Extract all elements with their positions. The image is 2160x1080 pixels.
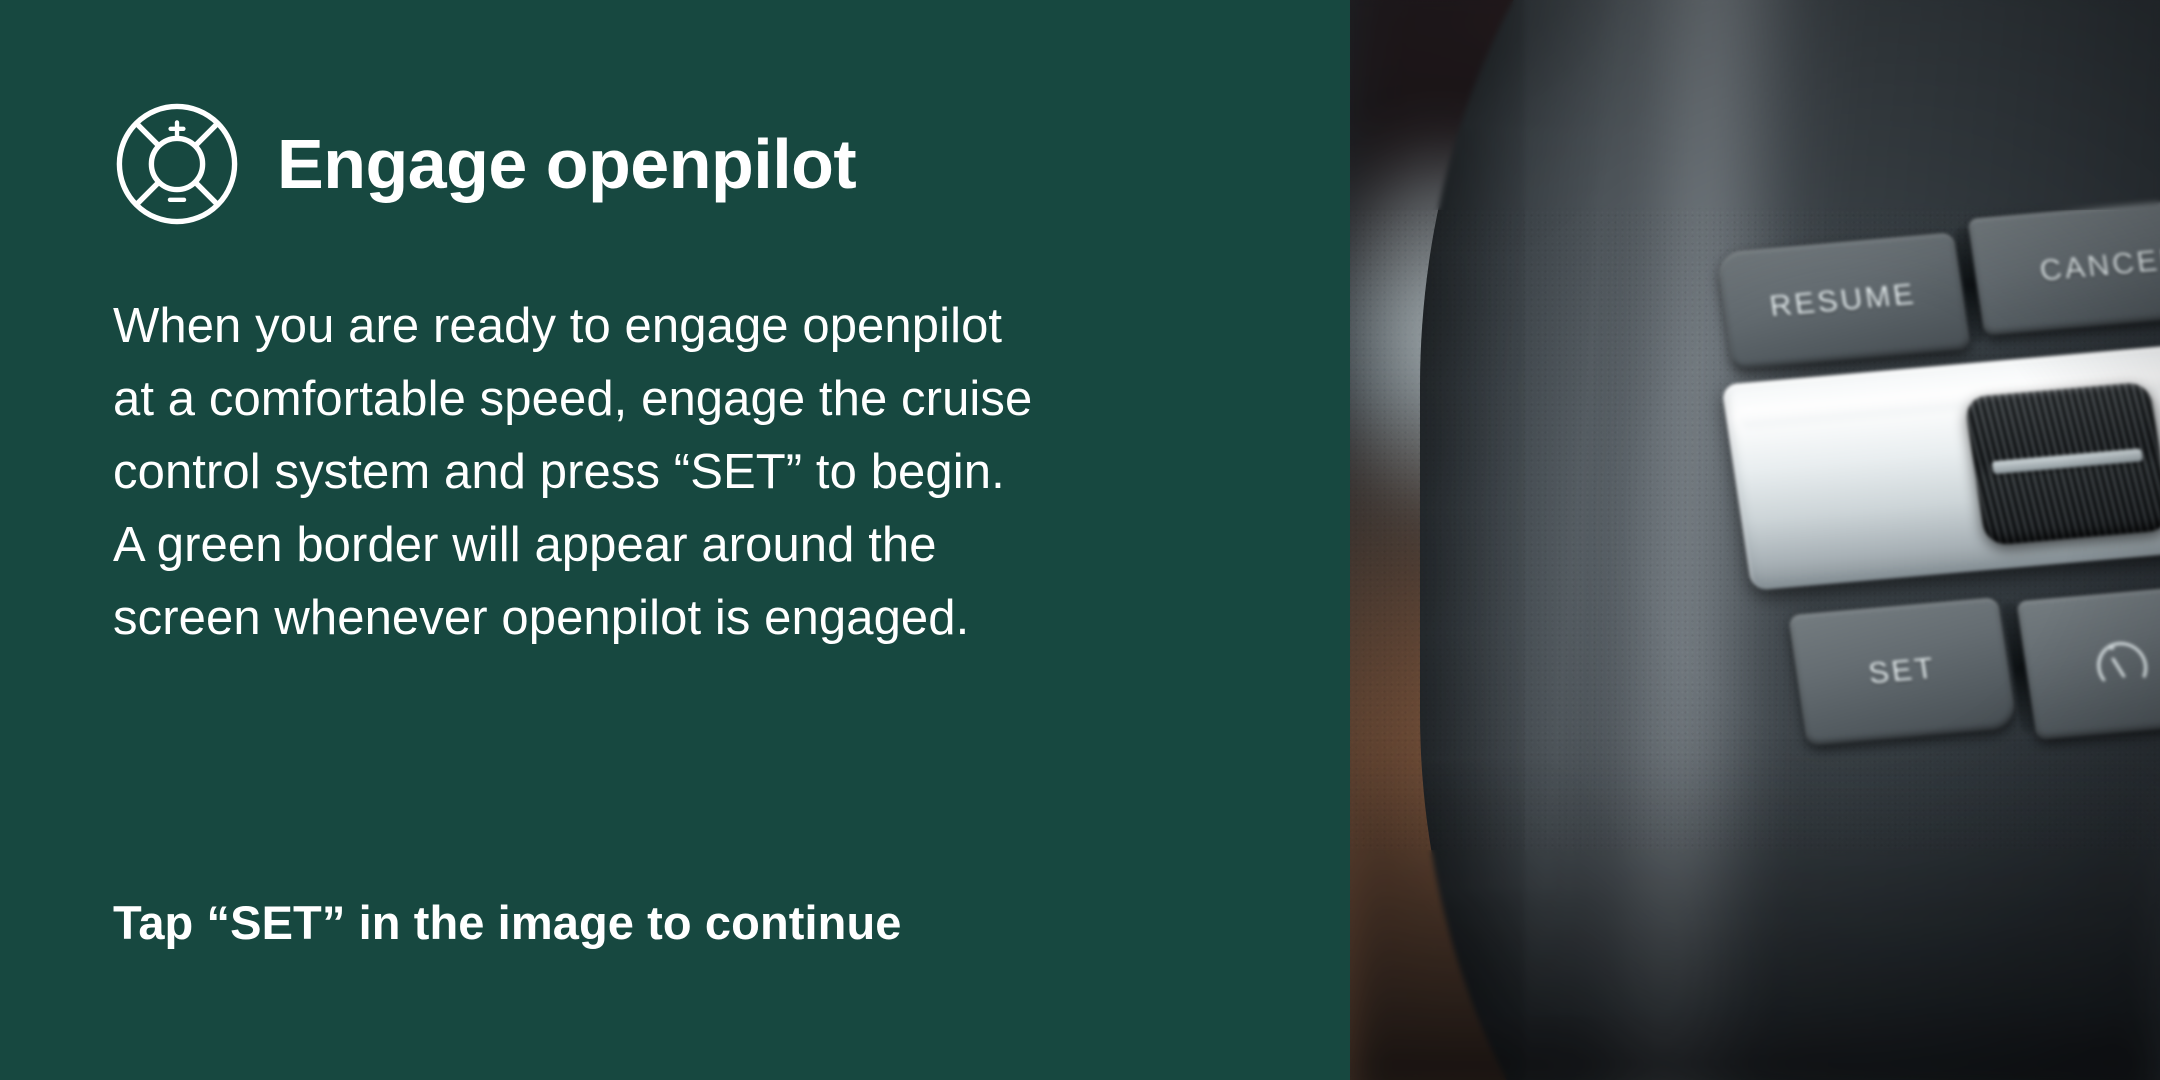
cruise-control-toggle-button[interactable] (2016, 585, 2160, 740)
instruction-panel: Engage openpilot When you are ready to e… (0, 0, 1350, 1080)
body-line: When you are ready to engage openpilot (113, 290, 1273, 363)
rim-bottom-shadow (1350, 760, 2160, 1080)
body-line: screen whenever openpilot is engaged. (113, 582, 1273, 655)
set-button[interactable]: SET (1788, 597, 2017, 746)
resume-button-label: RESUME (1768, 278, 1919, 324)
body-line: A green border will appear around the (113, 509, 1273, 582)
instruction-body: When you are ready to engage openpilot a… (113, 290, 1273, 655)
panel-header: Engage openpilot (113, 100, 856, 228)
set-button-label: SET (1866, 652, 1938, 692)
call-to-action-text: Tap “SET” in the image to continue (113, 895, 902, 950)
resume-button[interactable]: RESUME (1716, 232, 1971, 369)
steering-wheel-photo[interactable]: RESUME CANCEL + – SET (1350, 0, 2160, 1080)
body-line: at a comfortable speed, engage the cruis… (113, 363, 1273, 436)
knurled-thumbwheel[interactable] (1964, 381, 2160, 546)
page-title: Engage openpilot (277, 129, 856, 199)
body-line: control system and press “SET” to begin. (113, 436, 1273, 509)
onboarding-screen: Engage openpilot When you are ready to e… (0, 0, 2160, 1080)
cancel-button-label: CANCEL (2038, 243, 2160, 289)
speedometer-icon (2086, 629, 2157, 696)
cruise-control-icon (113, 100, 241, 228)
thumbwheel-center-bar (1991, 448, 2143, 474)
speed-rocker[interactable]: + – (1721, 336, 2160, 590)
cancel-button[interactable]: CANCEL (1967, 196, 2160, 336)
